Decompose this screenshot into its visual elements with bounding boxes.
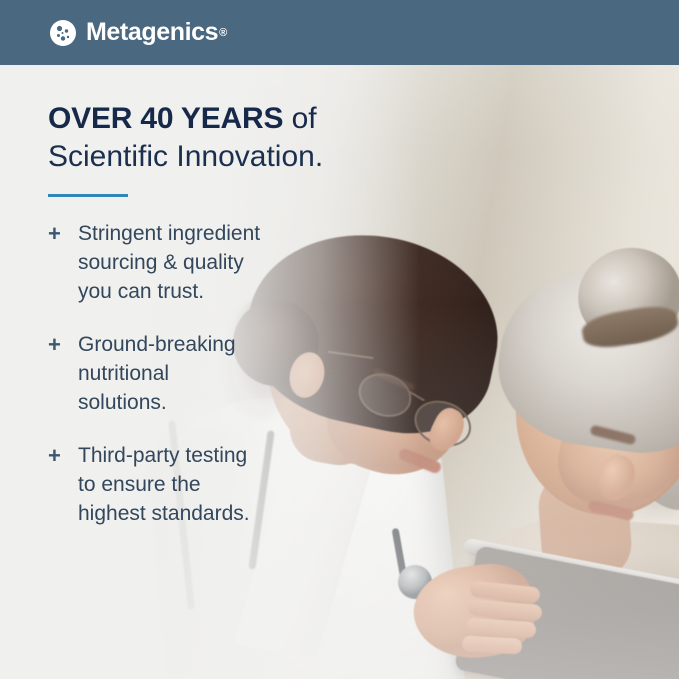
brand-logo[interactable]: Metagenics ® — [49, 19, 227, 47]
list-item: + Third-party testing to ensure the high… — [48, 441, 378, 528]
list-item-label: Third-party testing to ensure the highes… — [78, 441, 250, 528]
list-item-label: Ground-breaking nutritional solutions. — [78, 330, 236, 417]
metagenics-cell-logo-icon — [49, 19, 77, 47]
headline-line-2: Scientific Innovation. — [48, 138, 378, 176]
plus-icon: + — [48, 330, 78, 417]
plus-icon: + — [48, 219, 78, 306]
list-item: + Stringent ingredient sourcing & qualit… — [48, 219, 378, 306]
list-item-label: Stringent ingredient sourcing & quality … — [78, 219, 260, 306]
brand-header: Metagenics ® — [0, 0, 679, 65]
plus-icon: + — [48, 441, 78, 528]
registered-trademark-mark: ® — [219, 27, 227, 39]
page-title: OVER 40 YEARS of Scientific Innovation. — [48, 100, 378, 176]
brand-name: Metagenics — [86, 20, 218, 45]
promotional-image: Metagenics ® OVER 40 YEARS of Scientific… — [0, 0, 679, 679]
headline-strong: OVER 40 YEARS — [48, 102, 283, 135]
accent-divider — [48, 194, 128, 197]
benefit-list: + Stringent ingredient sourcing & qualit… — [48, 219, 378, 528]
headline-light: of — [283, 102, 316, 135]
list-item: + Ground-breaking nutritional solutions. — [48, 330, 378, 417]
marketing-copy: OVER 40 YEARS of Scientific Innovation. … — [48, 100, 378, 528]
